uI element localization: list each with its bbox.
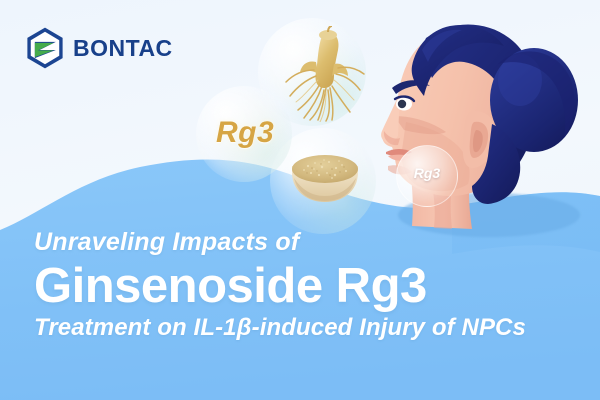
powder-dish-icon (288, 152, 362, 206)
poster-canvas: BONTAC (0, 0, 600, 400)
headline-main-title: Ginsenoside Rg3 (34, 261, 574, 312)
brand-name: BONTAC (73, 37, 173, 60)
brand-logo[interactable]: BONTAC (26, 27, 173, 69)
headline-eyebrow: Unraveling Impacts of (34, 228, 574, 257)
bontac-hexagon-logo-icon (26, 27, 64, 69)
headline-block: Unraveling Impacts of Ginsenoside Rg3 Tr… (34, 228, 574, 342)
rg3-gold-label: Rg3 (216, 118, 274, 148)
ginseng-root-icon (276, 26, 368, 122)
headline-subtitle: Treatment on IL-1β-induced Injury of NPC… (34, 314, 574, 342)
mouth-rg3-bubble-label: Rg3 (405, 166, 449, 180)
